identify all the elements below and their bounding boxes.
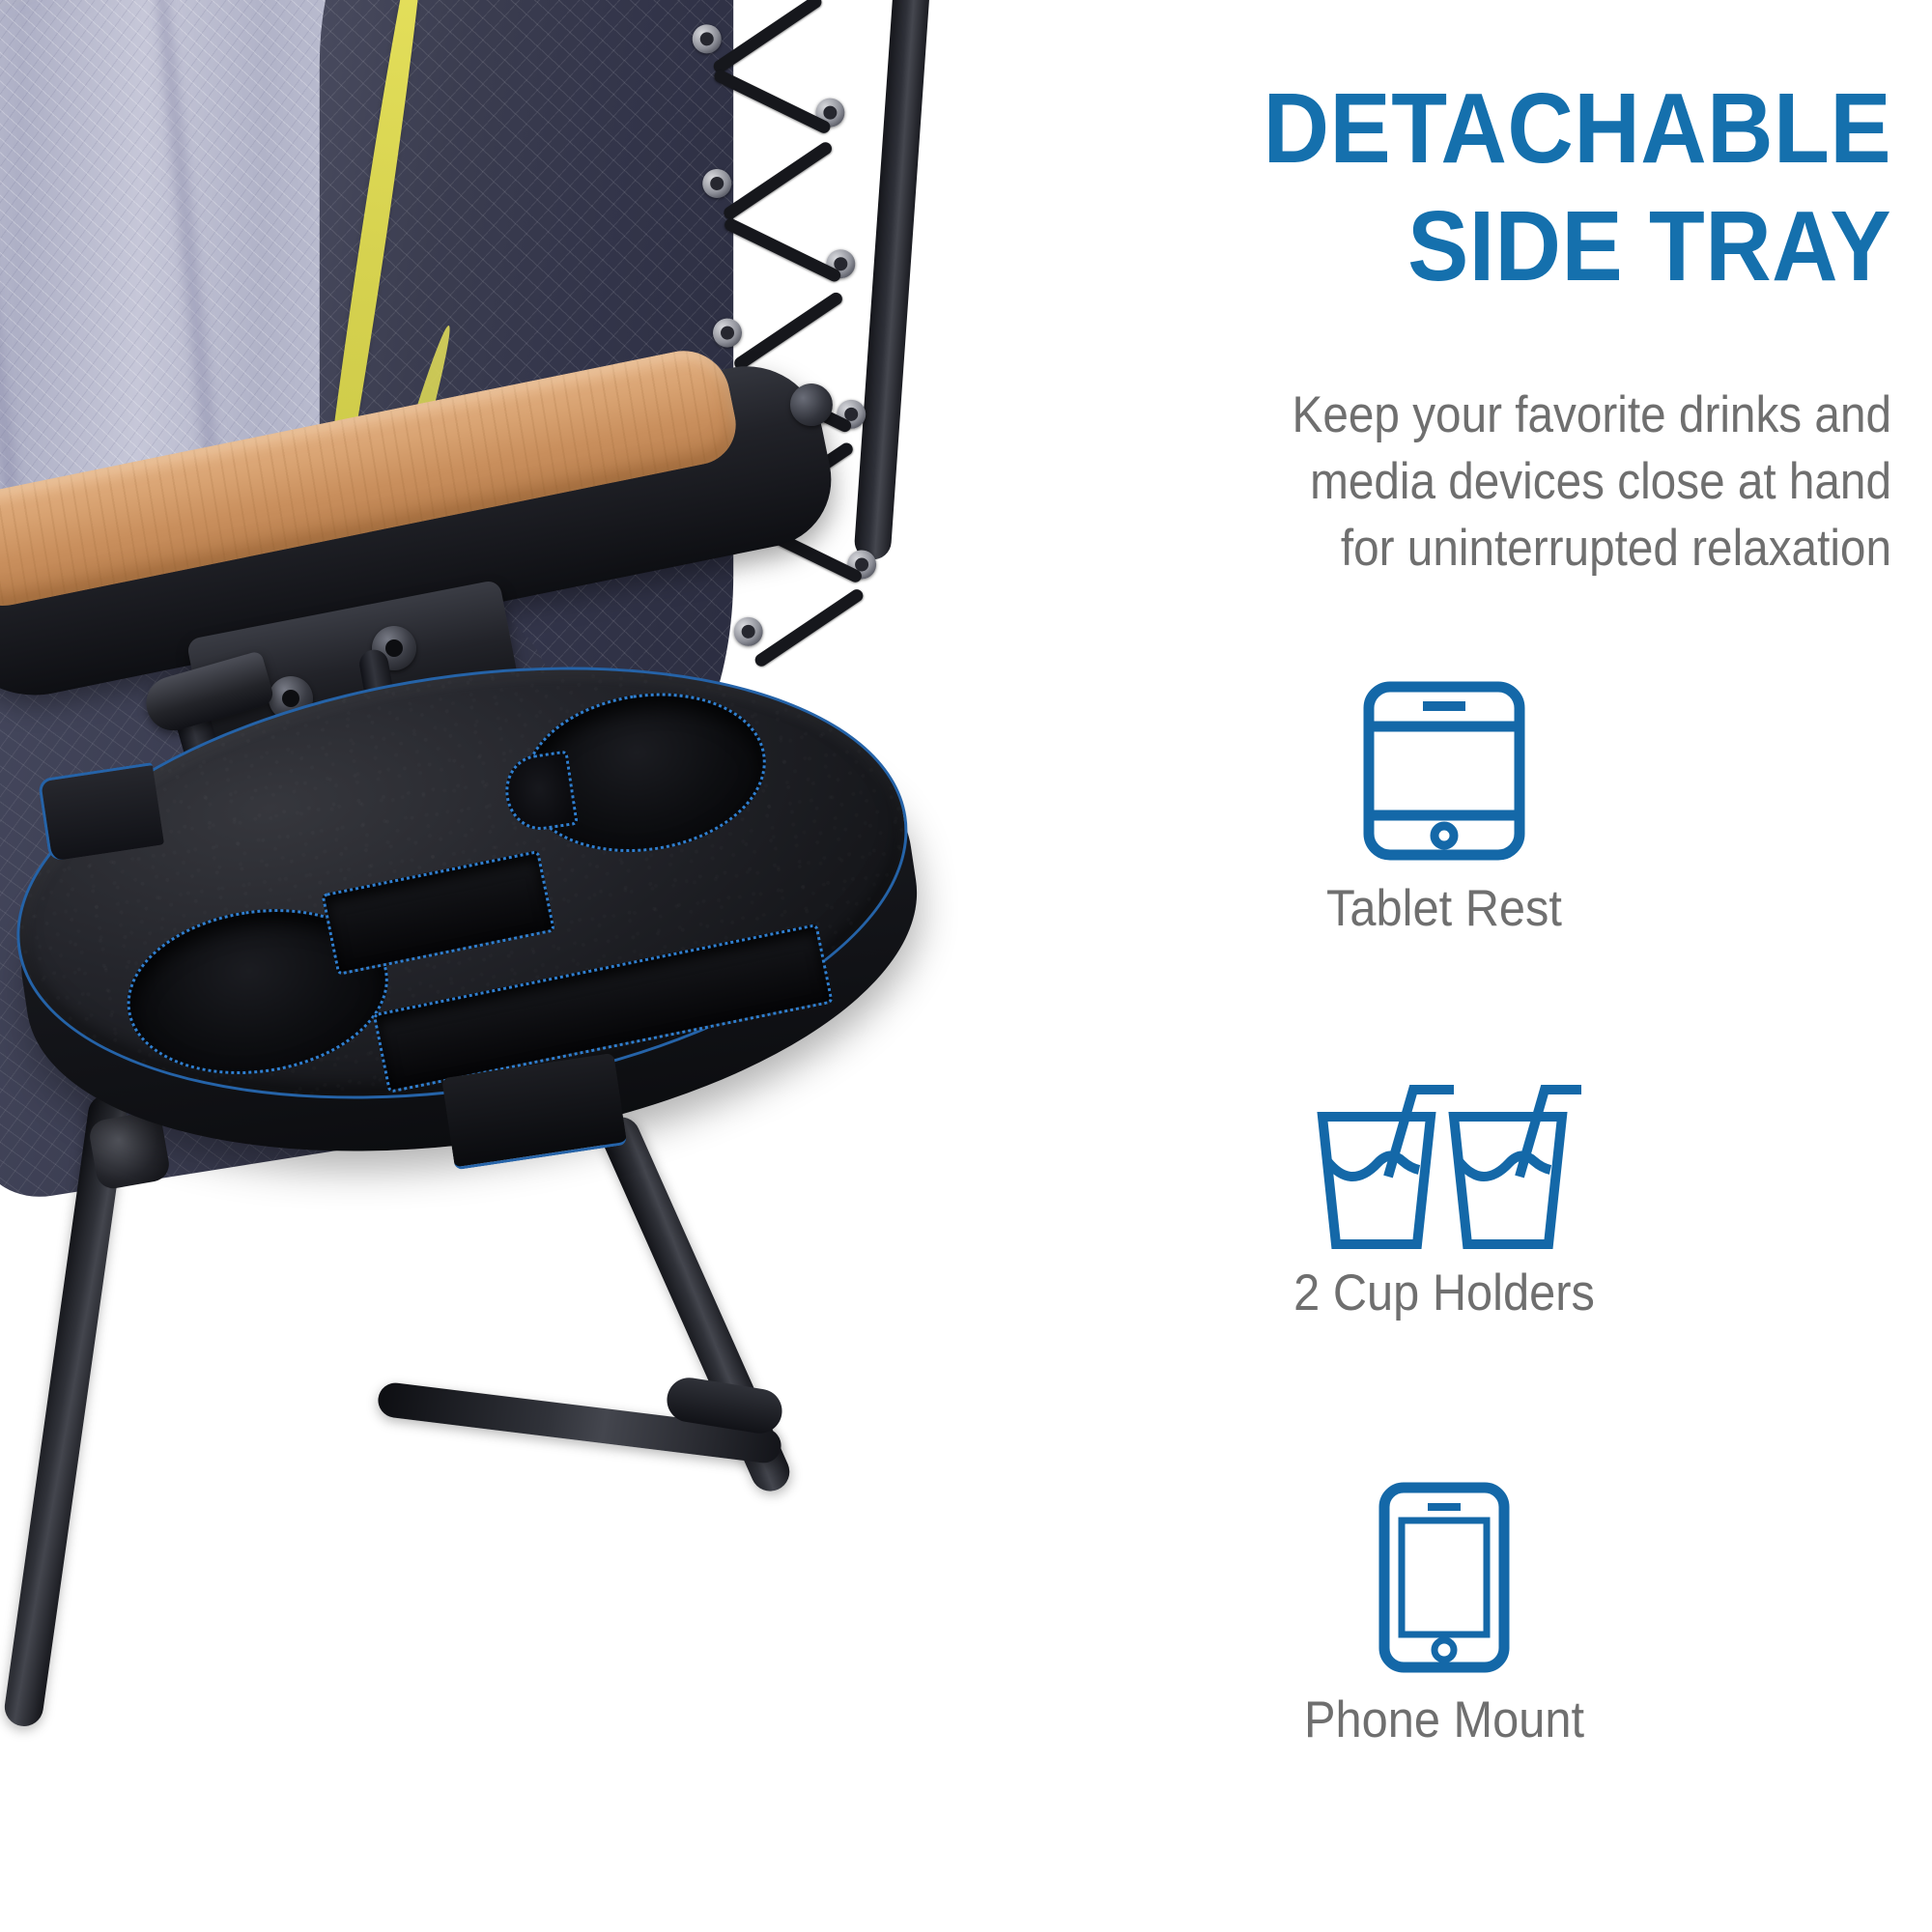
marketing-image-canvas: DETACHABLE SIDE TRAY Keep your favorite … [0, 0, 1932, 1932]
tray-mount-tab [38, 762, 164, 862]
feature-label: Tablet Rest [995, 881, 1892, 937]
bungee-cord [711, 0, 824, 75]
subtitle-line-3: for uninterrupted relaxation [1092, 516, 1891, 582]
grommet [692, 23, 723, 54]
feature-label: Phone Mount [995, 1692, 1892, 1748]
headline-line-2: SIDE TRAY [1074, 187, 1891, 305]
feature-text-panel: DETACHABLE SIDE TRAY Keep your favorite … [956, 0, 1932, 1932]
grommet [701, 168, 732, 199]
phone-icon [1375, 1478, 1514, 1677]
feature-phone-mount: Phone Mount [956, 1478, 1932, 1748]
bungee-cord [723, 216, 842, 284]
bungee-cord [712, 68, 832, 135]
two-cups-with-straws-icon [1307, 1072, 1581, 1250]
tablet-icon [1358, 676, 1530, 866]
bungee-cord [722, 140, 835, 222]
subtitle-line-2: media devices close at hand [1092, 449, 1891, 516]
feature-label: 2 Cup Holders [995, 1265, 1892, 1321]
product-photo [0, 0, 1082, 1932]
feature-tablet-rest: Tablet Rest [956, 676, 1932, 937]
headline-line-1: DETACHABLE [1074, 70, 1891, 187]
subtitle-line-1: Keep your favorite drinks and [1092, 383, 1891, 449]
subtitle: Keep your favorite drinks and media devi… [1092, 383, 1891, 582]
feature-cup-holders: 2 Cup Holders [956, 1072, 1932, 1321]
page-title: DETACHABLE SIDE TRAY [1074, 70, 1891, 304]
